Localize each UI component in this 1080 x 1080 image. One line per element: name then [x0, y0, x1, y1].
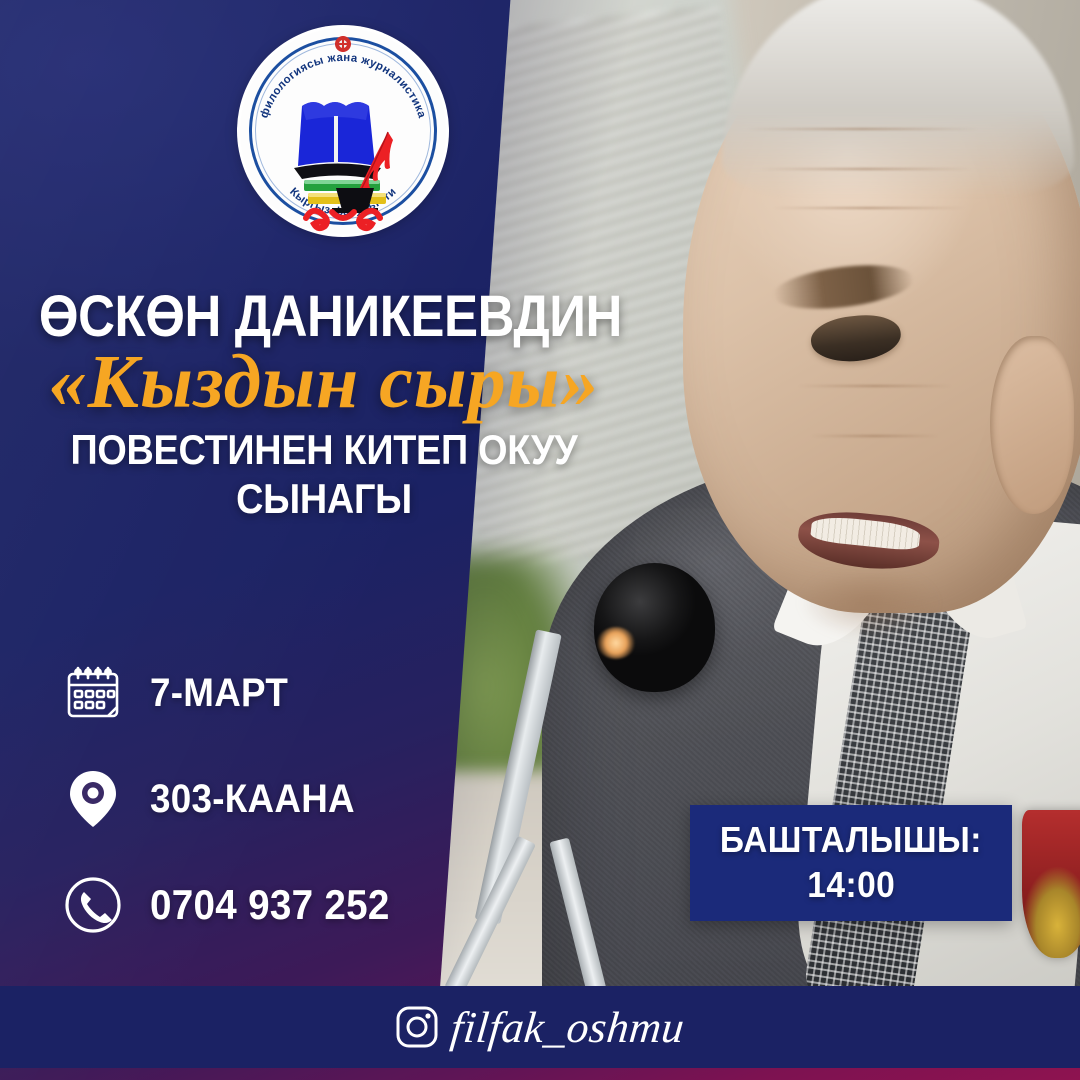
author-name: ӨСКӨН ДАНИКЕЕВДИН: [39, 288, 609, 346]
work-title: «Кыздын сыры»: [0, 342, 648, 423]
event-poster: филологиясы жана журналистика Кыргыз фак…: [0, 0, 1080, 1080]
detail-row-date: 7-МАРТ: [62, 662, 532, 724]
instagram-icon[interactable]: [395, 1005, 439, 1049]
logo-top-ornament: [335, 36, 351, 52]
microphone-highlight: [597, 627, 635, 659]
event-date: 7-МАРТ: [150, 671, 288, 716]
subject-medal: [1022, 810, 1080, 958]
start-time-label: БАШТАЛЫШЫ:: [720, 821, 982, 859]
forehead-line-2: [760, 168, 971, 170]
start-time-value: 14:00: [807, 865, 895, 905]
cheek-line-1: [798, 385, 952, 387]
logo-graphic: филологиясы жана журналистика Кыргыз фак…: [240, 28, 446, 234]
headline-block: ӨСКӨН ДАНИКЕЕВДИН «Кыздын сыры» ПОВЕСТИН…: [0, 288, 648, 524]
detail-row-location: 303-КААНА: [62, 768, 532, 830]
logo-yurt-icon: [294, 102, 381, 179]
cheek-line-2: [811, 435, 939, 437]
start-time-badge: БАШТАЛЫШЫ: 14:00: [690, 805, 1012, 921]
event-phone: 0704 937 252: [150, 881, 390, 929]
event-subtitle-line-2: СЫНАГЫ: [32, 474, 615, 524]
instagram-handle[interactable]: filfak_oshmu: [449, 1002, 688, 1053]
event-subtitle-line-1: ПОВЕСТИНЕН КИТЕП ОКУУ: [70, 426, 577, 473]
location-pin-icon: [62, 768, 124, 830]
event-subtitle: ПОВЕСТИНЕН КИТЕП ОКУУ СЫНАГЫ: [32, 425, 615, 524]
event-details: 7-МАРТ 303-КААНА 0704 937 252: [62, 662, 532, 980]
event-location: 303-КААНА: [150, 777, 355, 822]
subject-chin-shadow: [773, 573, 965, 672]
phone-icon: [62, 874, 124, 936]
calendar-icon: [62, 662, 124, 724]
faculty-logo: филологиясы жана журналистика Кыргыз фак…: [240, 28, 446, 234]
footer-bar: filfak_oshmu: [0, 986, 1080, 1068]
subject-ear: [990, 336, 1073, 514]
detail-row-phone: 0704 937 252: [62, 874, 532, 936]
